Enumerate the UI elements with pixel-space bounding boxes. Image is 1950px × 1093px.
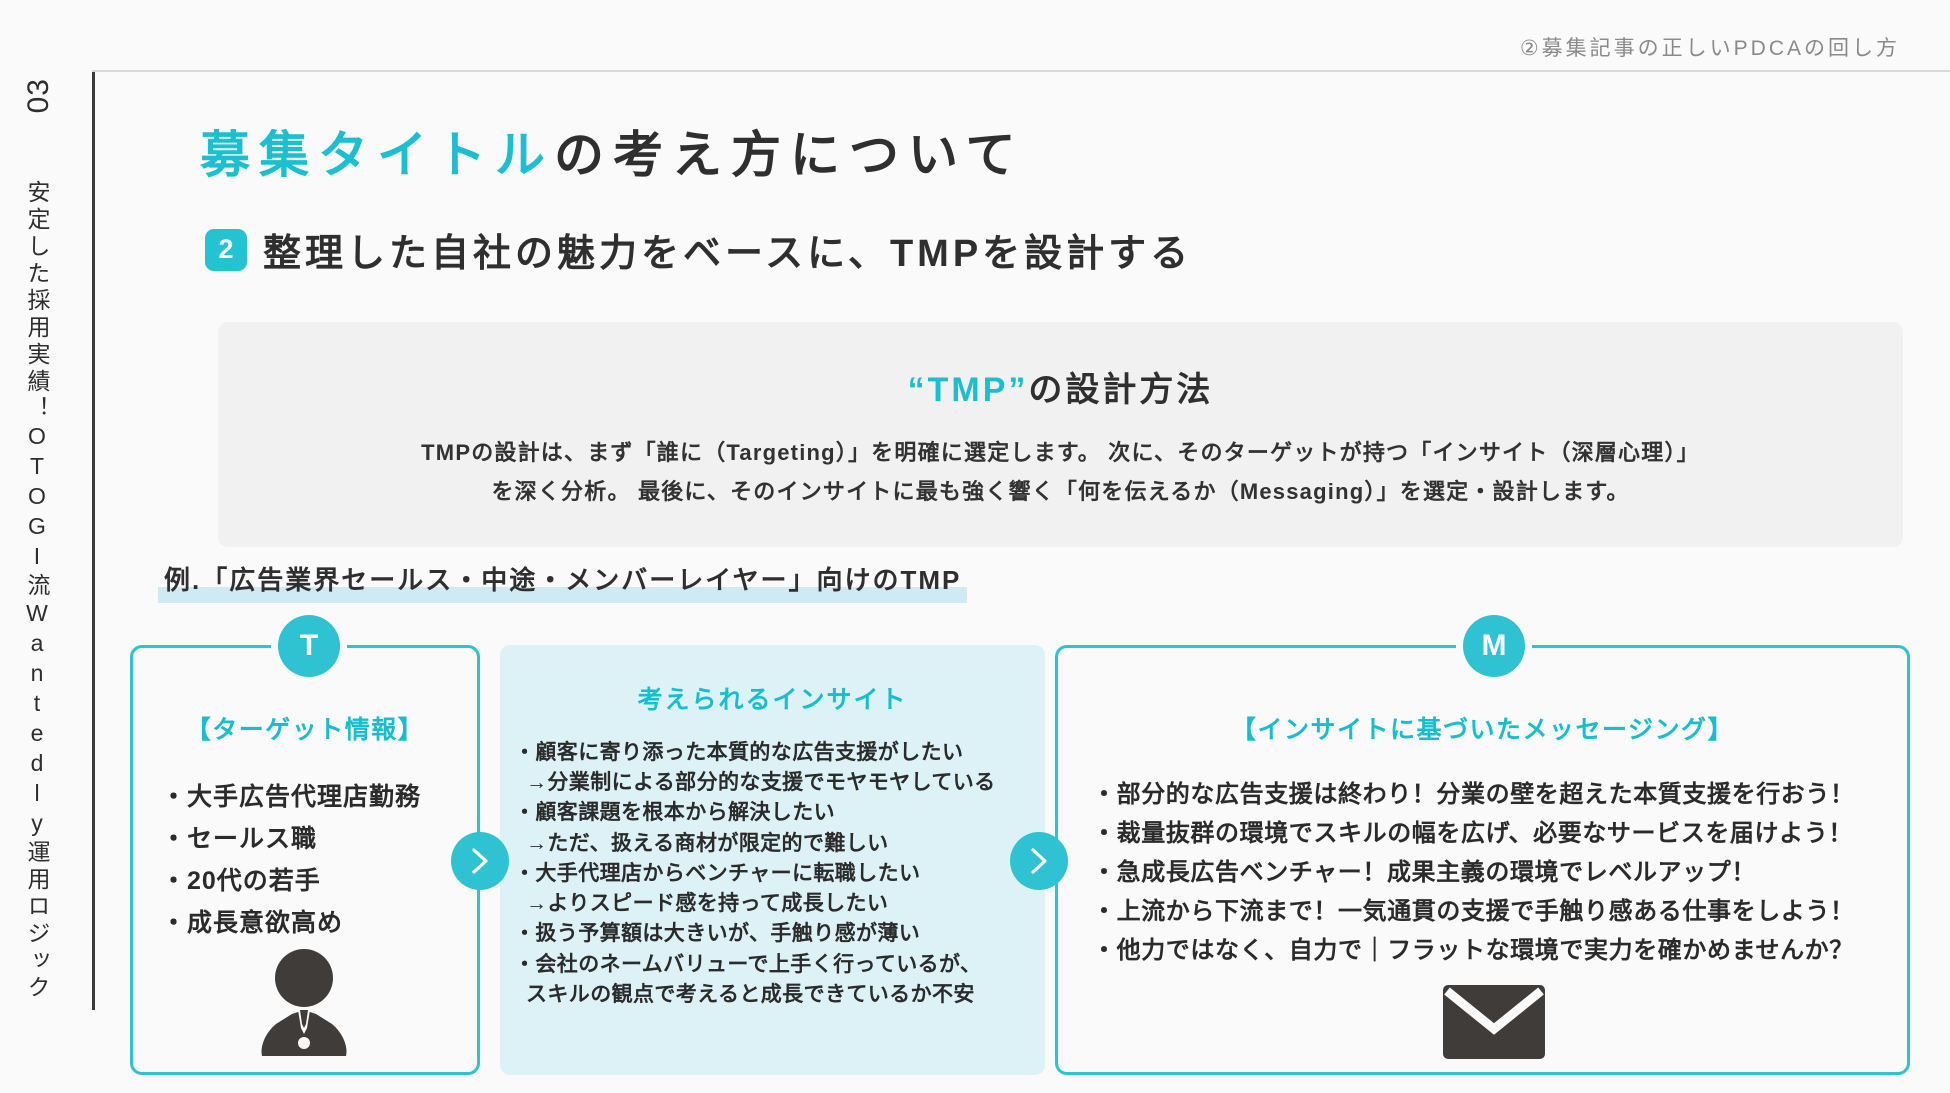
message-heading: 【インサイトに基づいたメッセージング】 [1058,710,1907,746]
target-heading: 【ターゲット情報】 [133,710,477,746]
list-item: ・大手広告代理店勤務 [161,776,477,818]
slide-root: 03 安定した採用実績！OTOGI流Wantedly運用ロジック ②募集記事の正… [0,0,1950,1093]
insight-column: 考えられるインサイト ・顧客に寄り添った本質的な広告支援がしたい →分業制による… [500,645,1045,1075]
header-divider [92,70,1950,72]
subtitle-step-badge: 2 [205,229,247,271]
list-item: スキルの観点で考えると成長できているか不安 [514,980,1045,1010]
list-item: ・部分的な広告支援は終わり！分業の壁を超えた本質支援を行おう！ [1092,776,1907,815]
tmp-panel-title-rest: の設計方法 [1028,371,1213,409]
list-item: ・セールス職 [161,818,477,860]
list-item: →よりスピード感を持って成長したい [514,889,1045,919]
example-label: 例.「広告業界セールス・中途・メンバーレイヤー」向けのTMP [158,558,967,603]
message-badge: M [1463,615,1525,677]
target-list: ・大手広告代理店勤務 ・セールス職 ・20代の若手 ・成長意欲高め [133,776,477,944]
list-item: →ただ、扱える商材が限定的で難しい [514,829,1045,859]
message-list: ・部分的な広告支援は終わり！分業の壁を超えた本質支援を行おう！ ・裁量抜群の環境… [1058,776,1907,970]
tmp-panel-title-accent: “TMP” [908,371,1029,409]
list-item: ・他力ではなく、自力で｜フラットな環境で実力を確かめませんか？ [1092,932,1907,971]
insight-list: ・顧客に寄り添った本質的な広告支援がしたい →分業制による部分的な支援でモヤモヤ… [500,738,1045,1010]
list-item: →分業制による部分的な支援でモヤモヤしている [514,768,1045,798]
list-item: ・上流から下流まで！一気通貫の支援で手触り感ある仕事をしよう！ [1092,893,1907,932]
list-item: ・顧客課題を根本から解決したい [514,798,1045,828]
list-item: ・裁量抜群の環境でスキルの幅を広げ、必要なサービスを届けよう！ [1092,815,1907,854]
list-item: ・20代の若手 [161,860,477,902]
deck-title-vertical: 安定した採用実績！OTOGI流Wantedly運用ロジック [20,180,54,1020]
chevron-right-icon [1010,832,1068,890]
list-item: ・扱う予算額は大きいが、手触り感が薄い [514,919,1045,949]
list-item: ・急成長広告ベンチャー！成果主義の環境でレベルアップ！ [1092,854,1907,893]
chevron-right-icon [451,832,509,890]
page-title-accent: 募集タイトル [200,127,554,183]
tmp-panel-body: TMPの設計は、まず「誰に（Targeting）」を明確に選定します。 次に、そ… [218,434,1903,511]
page-title: 募集タイトルの考え方について [200,115,1025,187]
tmp-panel-body-line-2: を深く分析。 最後に、そのインサイトに最も強く響く「何を伝えるか（Messagi… [218,473,1903,512]
subtitle-text: 整理した自社の魅力をベースに、TMPを設計する [263,222,1192,277]
list-item: ・顧客に寄り添った本質的な広告支援がしたい [514,738,1045,768]
subtitle-row: 2 整理した自社の魅力をベースに、TMPを設計する [205,222,1192,277]
rail-divider-line [92,70,95,1010]
list-item: ・成長意欲高め [161,902,477,944]
section-tag: ②募集記事の正しいPDCAの回し方 [1520,32,1900,62]
person-icon [256,948,352,1063]
tmp-method-panel: “TMP”の設計方法 TMPの設計は、まず「誰に（Targeting）」を明確に… [218,322,1903,547]
tmp-panel-title: “TMP”の設計方法 [218,362,1903,411]
page-title-rest: の考え方について [554,127,1025,183]
envelope-icon [1443,985,1545,1064]
list-item: ・大手代理店からベンチャーに転職したい [514,859,1045,889]
tmp-panel-body-line-1: TMPの設計は、まず「誰に（Targeting）」を明確に選定します。 次に、そ… [218,434,1903,473]
slide-number: 03 [22,78,56,113]
list-item: ・会社のネームバリューで上手く行っているが、 [514,950,1045,980]
insight-heading: 考えられるインサイト [500,680,1045,716]
target-badge: T [278,615,340,677]
